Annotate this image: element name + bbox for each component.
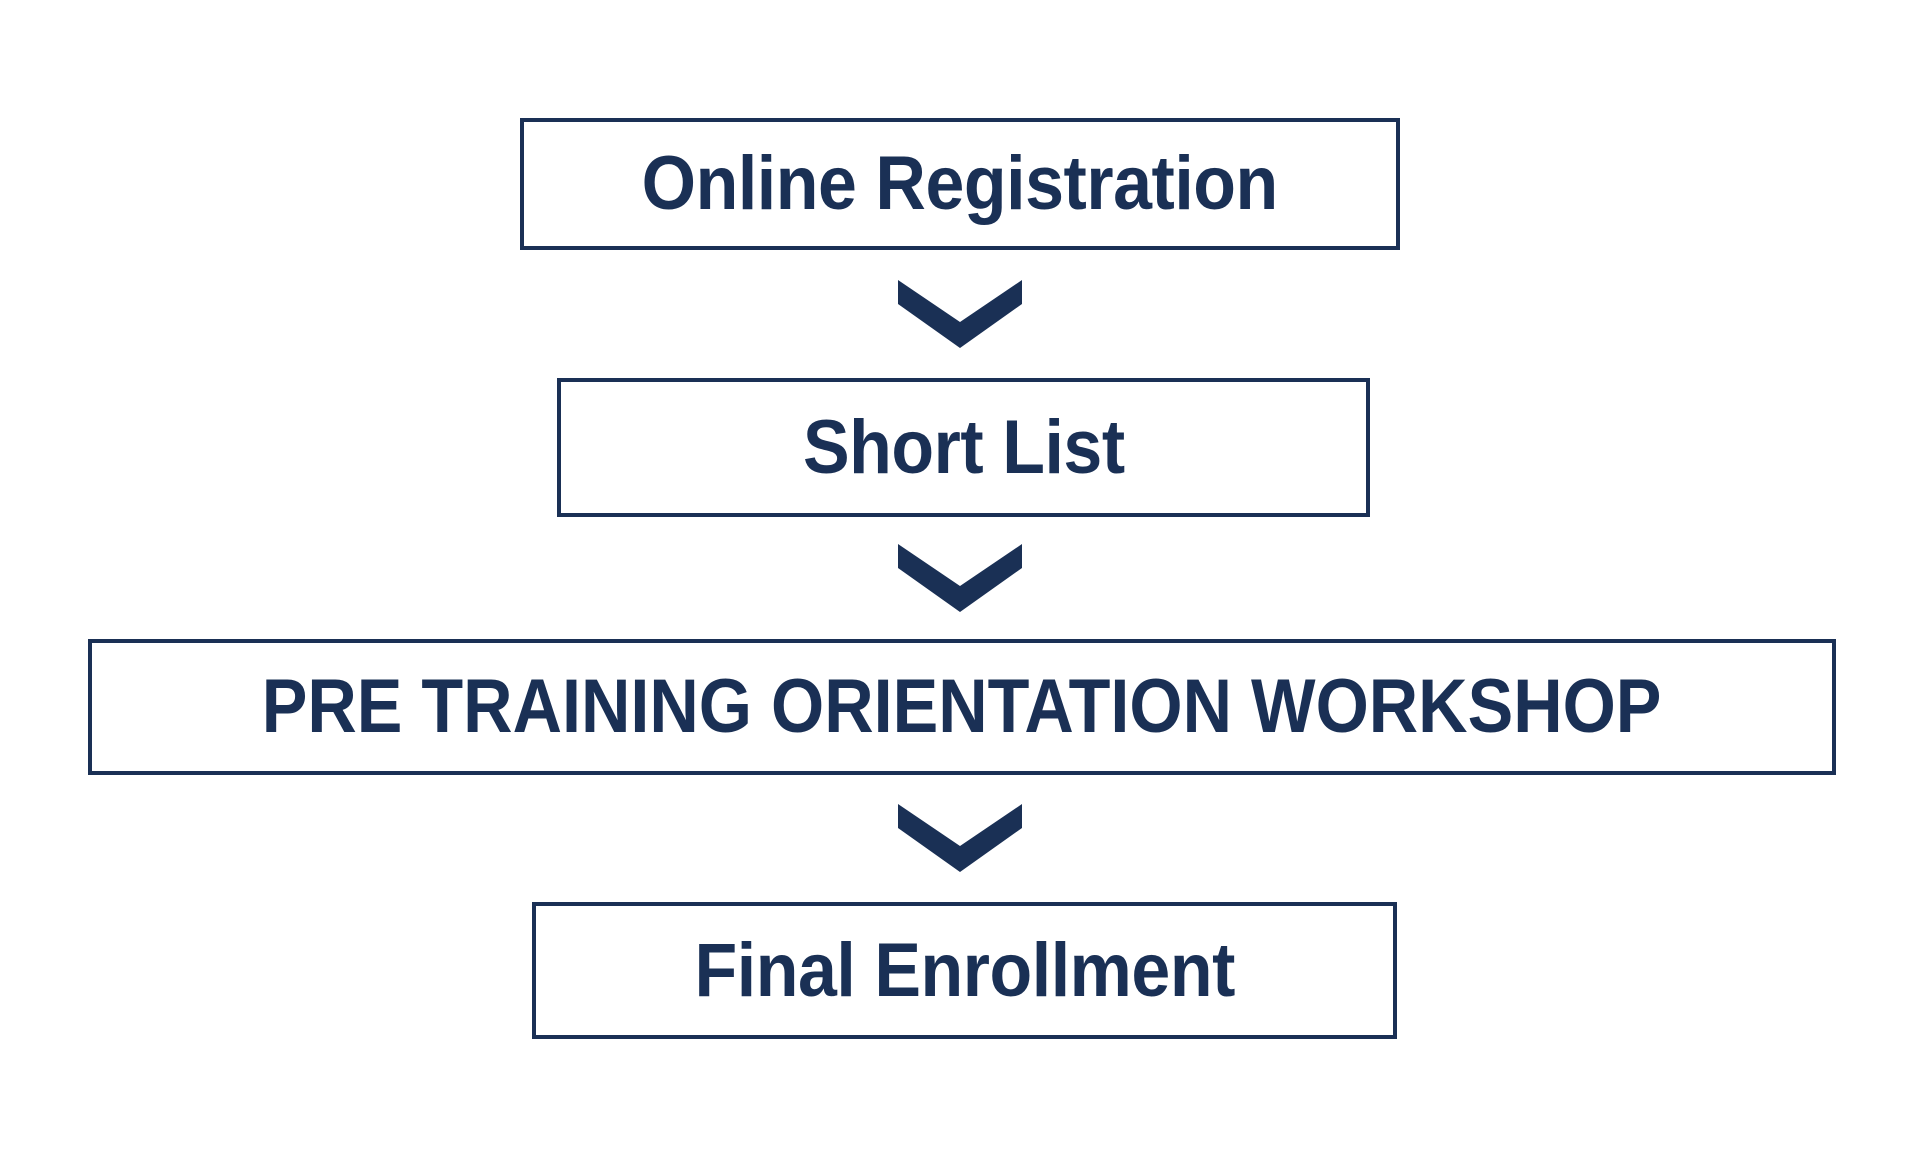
flow-node-label: Online Registration [642,146,1278,222]
flow-node-label: Short List [803,410,1125,486]
chevron-down-icon [898,802,1022,872]
flow-node-online-registration[interactable]: Online Registration [520,118,1400,250]
chevron-down-icon [898,542,1022,612]
chevron-down-icon [898,278,1022,348]
flowchart-diagram: Online Registration Short List PRE TRAIN… [0,0,1920,1154]
flow-node-final-enrollment[interactable]: Final Enrollment [532,902,1397,1039]
flow-node-short-list[interactable]: Short List [557,378,1370,517]
flow-node-label: Final Enrollment [694,933,1234,1009]
flow-node-pre-training-orientation-workshop[interactable]: PRE TRAINING ORIENTATION WORKSHOP [88,639,1836,775]
flow-node-label: PRE TRAINING ORIENTATION WORKSHOP [262,669,1662,745]
